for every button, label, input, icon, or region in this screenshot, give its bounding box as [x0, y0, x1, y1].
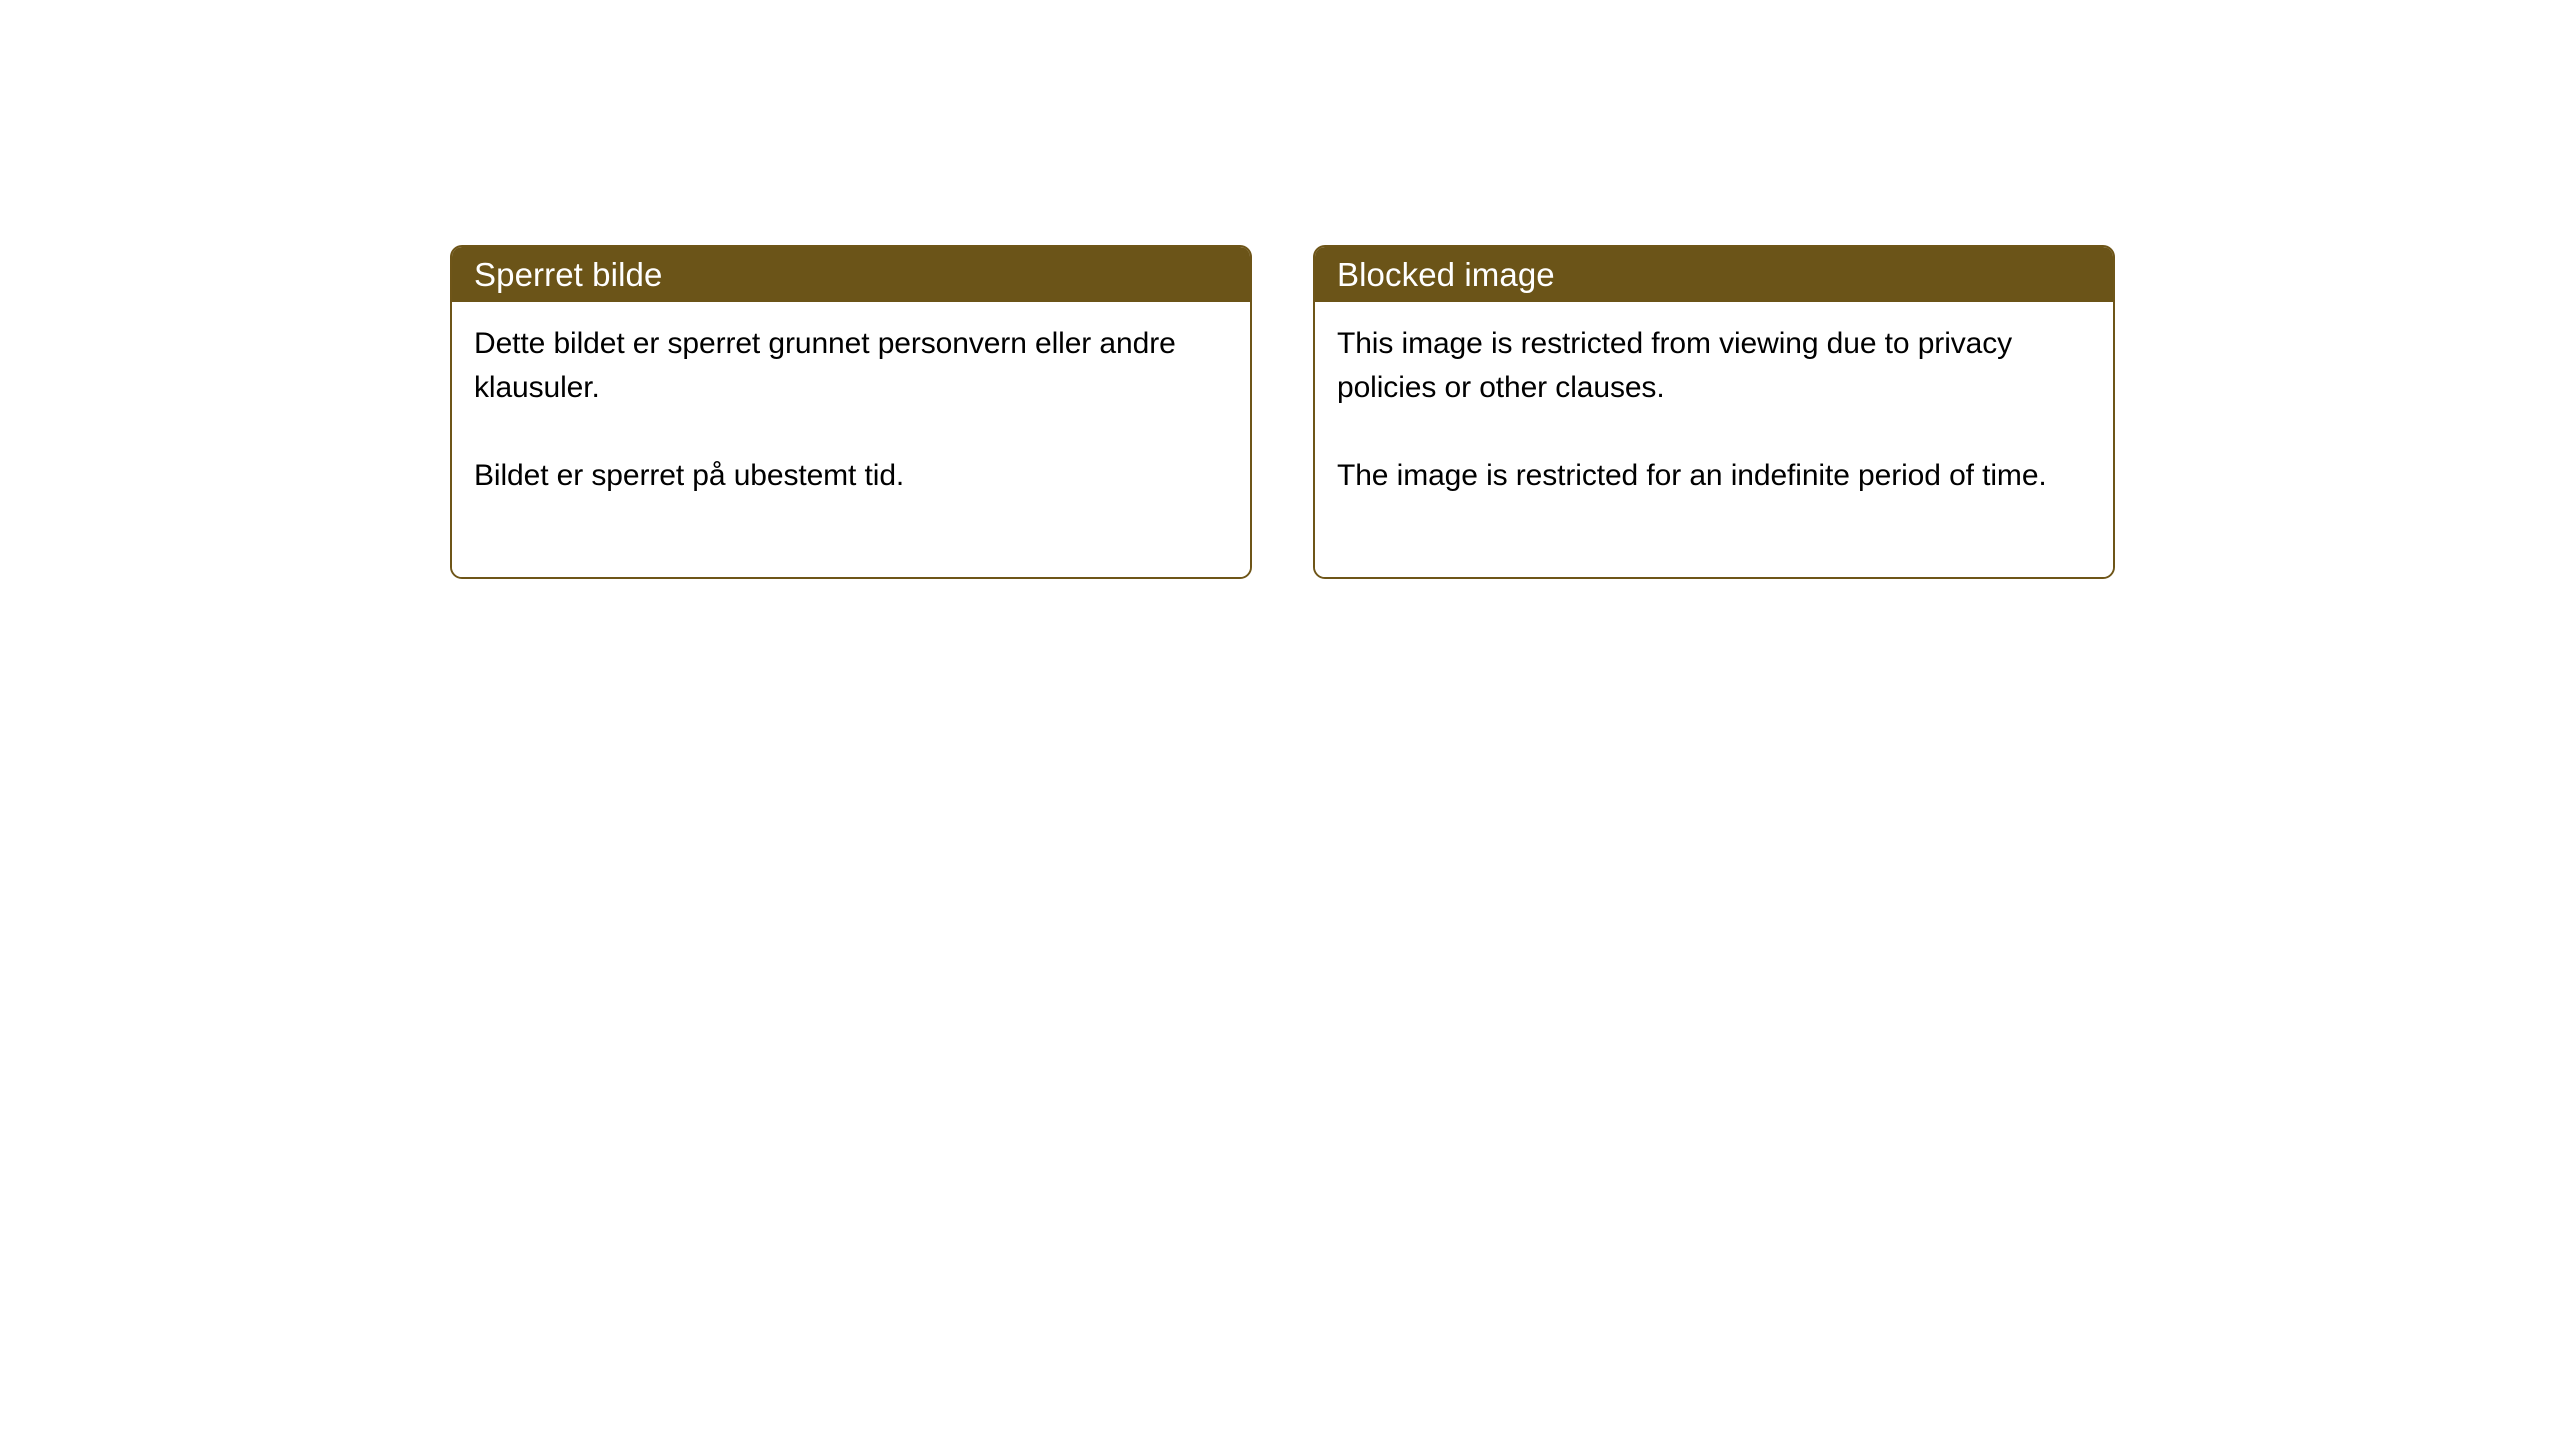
card-body-english: This image is restricted from viewing du… [1315, 302, 2113, 577]
blocked-image-notice-group: Sperret bilde Dette bildet er sperret gr… [450, 245, 2115, 579]
card-title-norwegian: Sperret bilde [474, 258, 662, 291]
card-paragraph-primary-norwegian: Dette bildet er sperret grunnet personve… [474, 322, 1228, 410]
page-canvas: Sperret bilde Dette bildet er sperret gr… [0, 0, 2560, 1440]
card-header-norwegian: Sperret bilde [452, 247, 1250, 302]
card-body-norwegian: Dette bildet er sperret grunnet personve… [452, 302, 1250, 577]
blocked-image-card-norwegian: Sperret bilde Dette bildet er sperret gr… [450, 245, 1252, 579]
card-paragraph-primary-english: This image is restricted from viewing du… [1337, 322, 2091, 410]
blocked-image-card-english: Blocked image This image is restricted f… [1313, 245, 2115, 579]
card-header-english: Blocked image [1315, 247, 2113, 302]
card-paragraph-secondary-norwegian: Bildet er sperret på ubestemt tid. [474, 454, 1228, 498]
card-paragraph-secondary-english: The image is restricted for an indefinit… [1337, 454, 2091, 498]
card-title-english: Blocked image [1337, 258, 1555, 291]
